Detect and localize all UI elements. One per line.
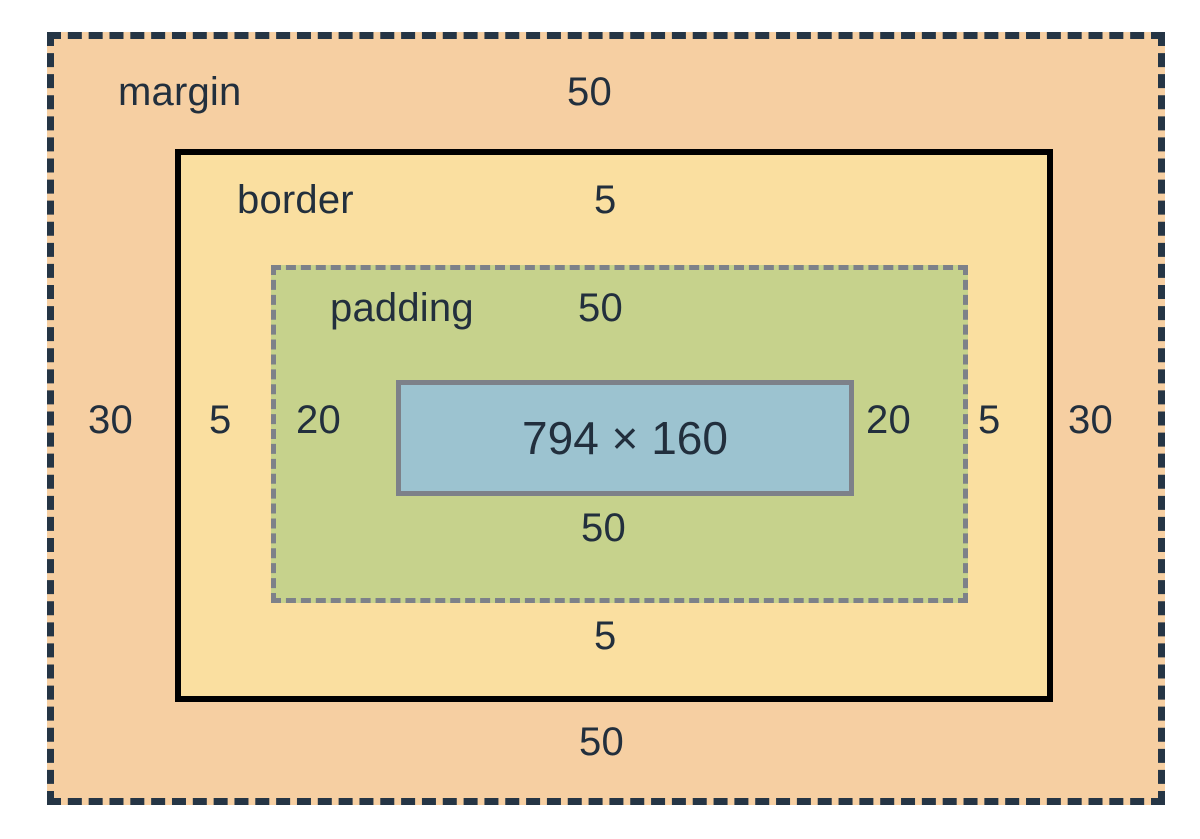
content-box[interactable]: 794 × 160	[396, 380, 854, 496]
margin-right-value[interactable]: 30	[1068, 400, 1113, 440]
border-right-value[interactable]: 5	[978, 400, 1000, 440]
border-bottom-value[interactable]: 5	[594, 616, 616, 656]
padding-label: padding	[330, 288, 474, 328]
margin-top-value[interactable]: 50	[567, 72, 612, 112]
border-label: border	[237, 180, 354, 220]
margin-left-value[interactable]: 30	[88, 400, 133, 440]
border-left-value[interactable]: 5	[209, 400, 231, 440]
box-model-diagram: 794 × 160 margin border padding 50 5 50 …	[0, 0, 1200, 839]
border-top-value[interactable]: 5	[594, 180, 616, 220]
content-size-label: 794 × 160	[522, 415, 728, 461]
padding-top-value[interactable]: 50	[578, 288, 623, 328]
margin-label: margin	[118, 72, 241, 112]
padding-bottom-value[interactable]: 50	[581, 508, 626, 548]
padding-left-value[interactable]: 20	[296, 400, 341, 440]
padding-right-value[interactable]: 20	[866, 400, 911, 440]
margin-bottom-value[interactable]: 50	[579, 722, 624, 762]
